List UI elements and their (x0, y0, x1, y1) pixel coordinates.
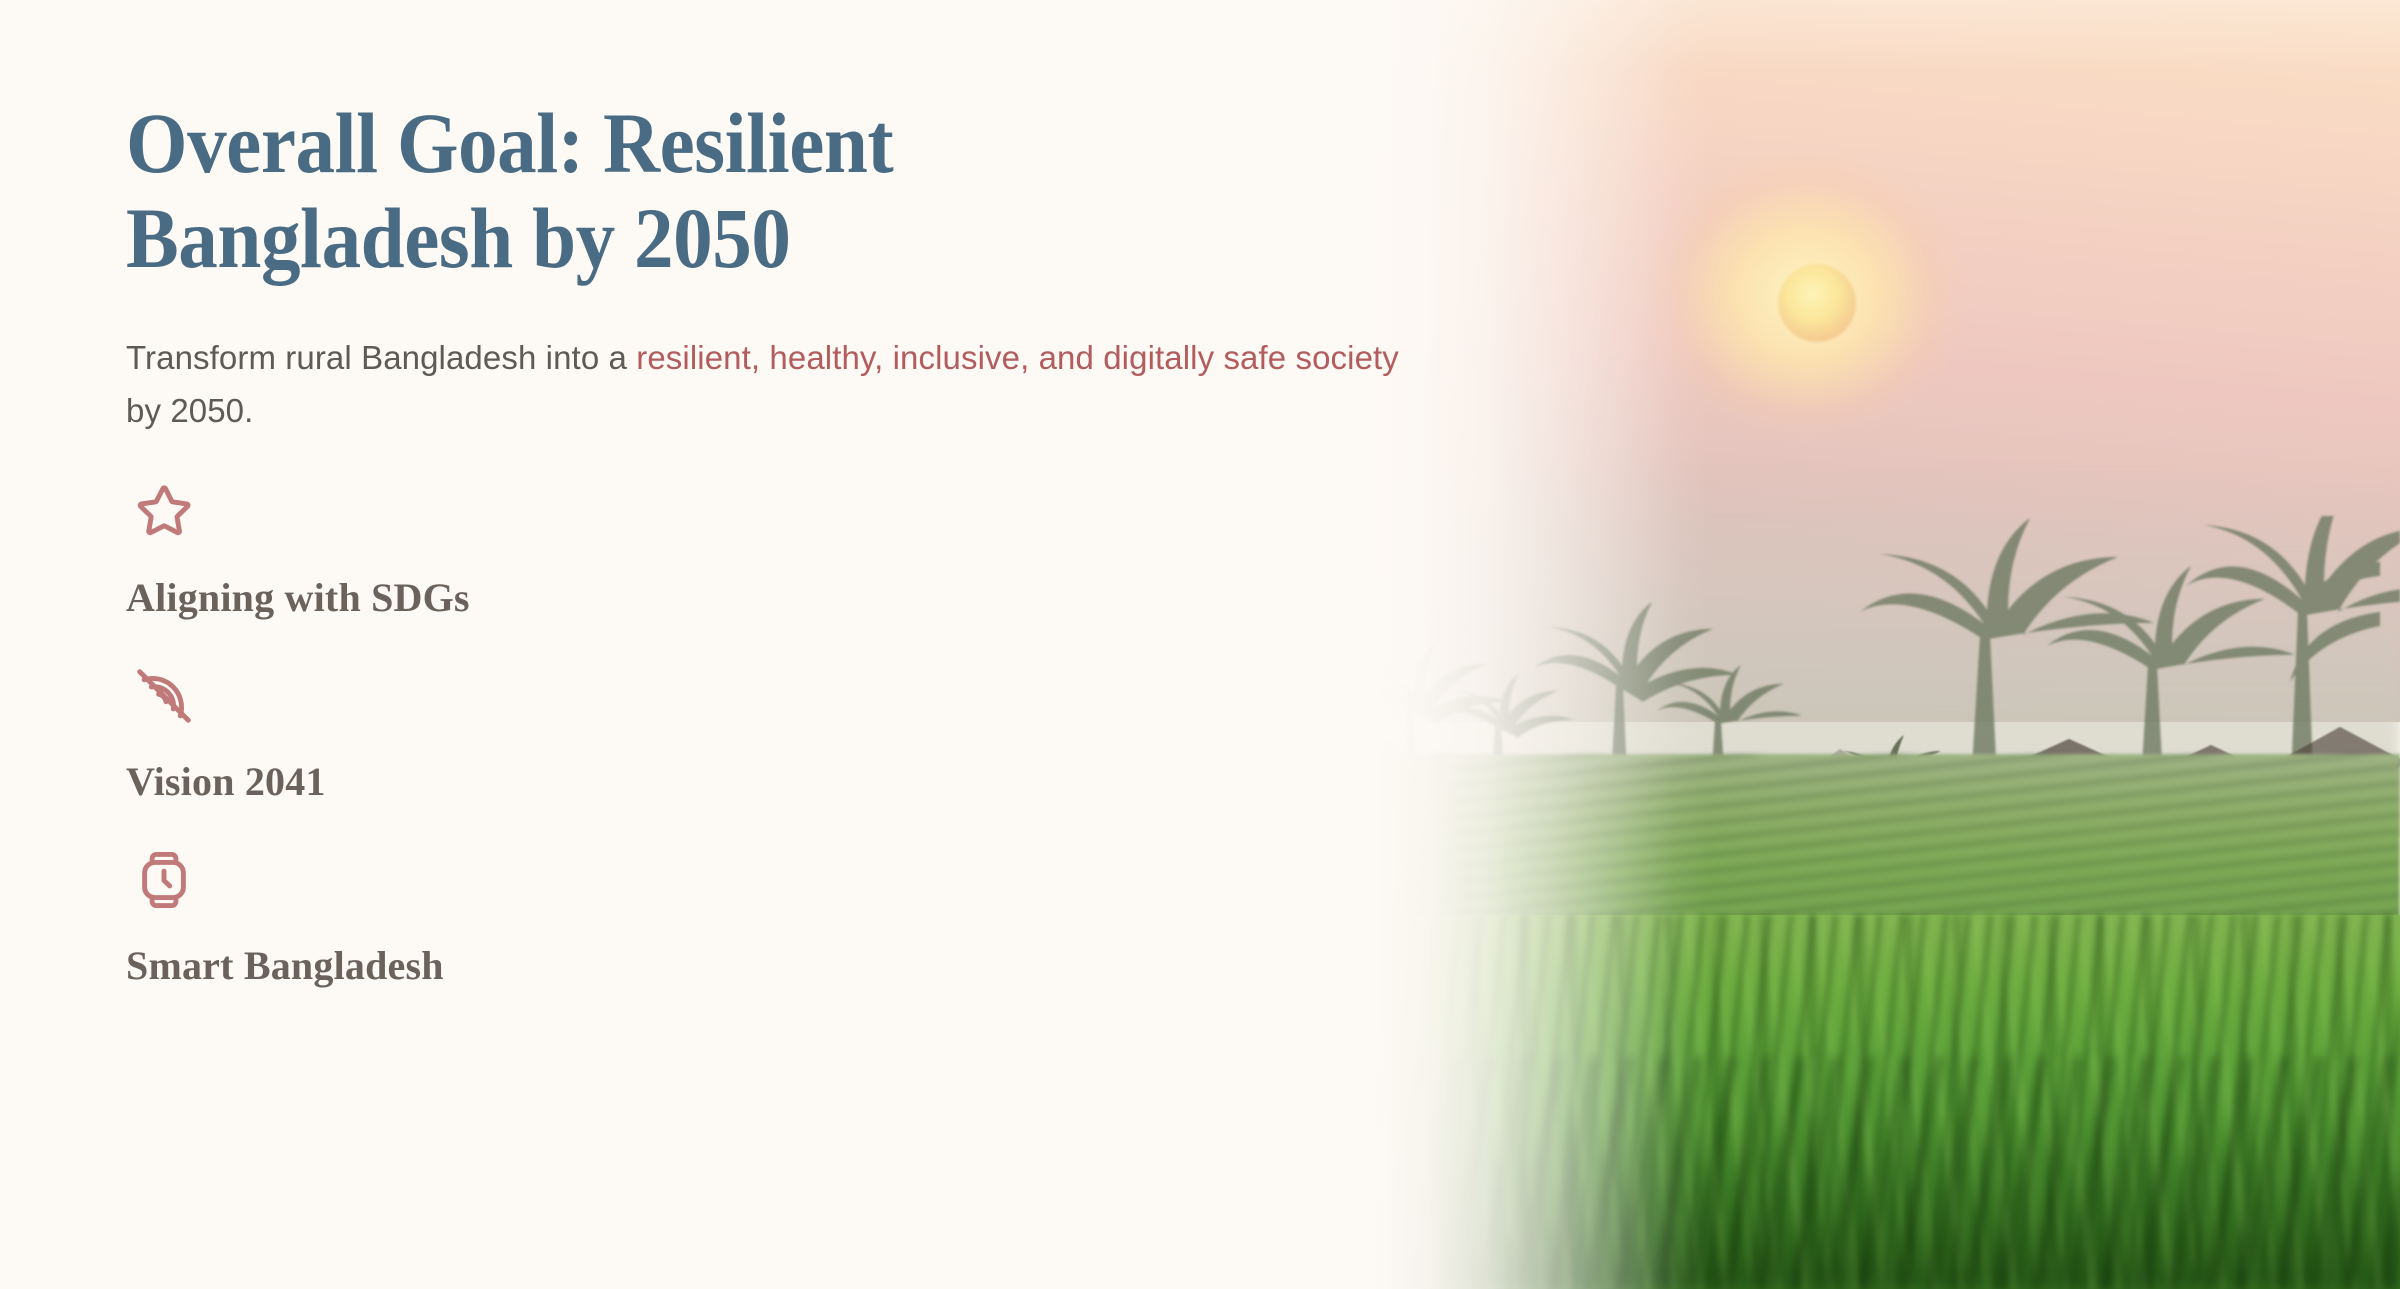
page-title: Overall Goal: Resilient Bangladesh by 20… (126, 96, 1055, 287)
smart-watch-icon (128, 844, 200, 916)
subtitle-lead: Transform rural Bangladesh into a (126, 339, 636, 376)
hero-photo-pane (1280, 0, 2400, 1289)
subtitle-highlight: resilient, healthy, inclusive, and digit… (636, 339, 1399, 376)
feature-item-sdgs[interactable]: Aligning with SDGs (126, 476, 1440, 622)
subtitle-tail: by 2050. (126, 392, 253, 429)
feature-item-smart-bangladesh[interactable]: Smart Bangladesh (126, 844, 1440, 990)
foreground-paddy-field (1280, 915, 2400, 1289)
feature-label-smart-bangladesh: Smart Bangladesh (126, 942, 444, 990)
subtitle: Transform rural Bangladesh into a resili… (126, 331, 1426, 438)
foreground-shadow (1280, 1121, 2400, 1289)
feature-label-sdgs: Aligning with SDGs (126, 574, 470, 622)
star-icon (128, 476, 200, 548)
feature-item-vision2041[interactable]: Vision 2041 (126, 660, 1440, 806)
slide-root: Overall Goal: Resilient Bangladesh by 20… (0, 0, 2400, 1289)
feature-label-vision2041: Vision 2041 (126, 758, 326, 806)
feature-list: Aligning with SDGs Vision 2041 (126, 476, 1440, 990)
content-column: Overall Goal: Resilient Bangladesh by 20… (0, 0, 1440, 1289)
rural-sunrise-photo (1280, 0, 2400, 1289)
signal-off-icon (128, 660, 200, 732)
